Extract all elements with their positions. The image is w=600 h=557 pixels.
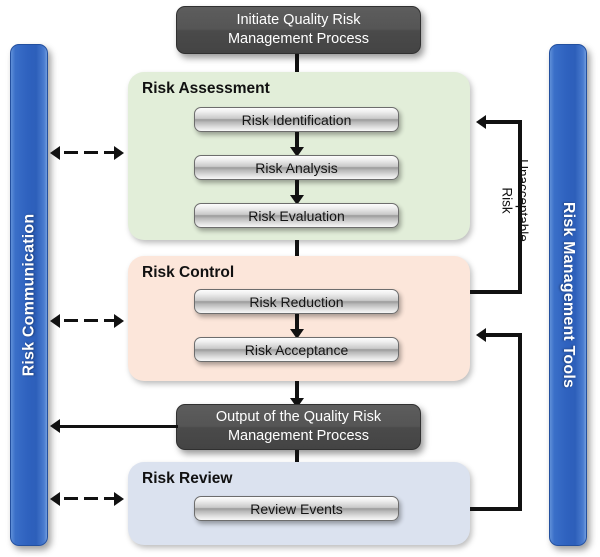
step-risk-evaluation[interactable]: Risk Evaluation bbox=[194, 203, 399, 228]
side-panel-risk-communication-label: Risk Communication bbox=[20, 214, 38, 377]
arrowhead-communication-control-left bbox=[50, 314, 60, 328]
side-panel-risk-management-tools[interactable]: Risk Management Tools bbox=[549, 44, 587, 546]
dash-communication-assessment-2 bbox=[84, 151, 98, 154]
step-risk-evaluation-label: Risk Evaluation bbox=[248, 208, 345, 224]
arrowhead-communication-control-right bbox=[114, 314, 124, 328]
step-risk-identification-label: Risk Identification bbox=[242, 112, 352, 128]
node-initiate-process-text: Initiate Quality Risk Management Process bbox=[228, 11, 369, 48]
arrowhead-review-to-control bbox=[476, 328, 486, 342]
dash-communication-assessment-3 bbox=[104, 151, 114, 154]
arrowhead-communication-assessment-left bbox=[50, 146, 60, 160]
phase-risk-control: Risk Control bbox=[128, 256, 470, 381]
arrowhead-communication-review-left bbox=[50, 492, 60, 506]
node-output-process-text: Output of the Quality Risk Management Pr… bbox=[216, 408, 381, 445]
step-risk-analysis[interactable]: Risk Analysis bbox=[194, 155, 399, 180]
step-risk-reduction-label: Risk Reduction bbox=[249, 294, 343, 310]
step-risk-acceptance[interactable]: Risk Acceptance bbox=[194, 337, 399, 362]
dash-communication-review-3 bbox=[104, 497, 114, 500]
dash-communication-control-3 bbox=[104, 319, 114, 322]
loop-unacceptable-risk-top-segment bbox=[486, 120, 522, 124]
arrowhead-communication-review-right bbox=[114, 492, 124, 506]
dash-communication-control-2 bbox=[84, 319, 98, 322]
arrowhead-unacceptable-risk bbox=[476, 115, 486, 129]
phase-risk-review-title: Risk Review bbox=[142, 470, 232, 488]
node-initiate-process[interactable]: Initiate Quality Risk Management Process bbox=[176, 6, 421, 54]
quality-risk-management-diagram: Risk Communication Risk Management Tools… bbox=[0, 0, 600, 557]
side-panel-risk-management-tools-label: Risk Management Tools bbox=[559, 202, 577, 388]
connector-output-to-communication bbox=[60, 425, 178, 428]
step-risk-identification[interactable]: Risk Identification bbox=[194, 107, 399, 132]
arrowhead-output-to-communication bbox=[50, 419, 60, 433]
step-review-events-label: Review Events bbox=[250, 501, 343, 517]
loop-review-to-control-bottom-segment bbox=[470, 507, 522, 511]
loop-unacceptable-risk-bottom-segment bbox=[470, 290, 522, 294]
step-risk-acceptance-label: Risk Acceptance bbox=[245, 342, 349, 358]
step-risk-reduction[interactable]: Risk Reduction bbox=[194, 289, 399, 314]
node-output-process[interactable]: Output of the Quality Risk Management Pr… bbox=[176, 404, 421, 450]
dash-communication-review-1 bbox=[64, 497, 78, 500]
step-review-events[interactable]: Review Events bbox=[194, 496, 399, 521]
dash-communication-review-2 bbox=[84, 497, 98, 500]
dash-communication-control-1 bbox=[64, 319, 78, 322]
phase-risk-assessment-title: Risk Assessment bbox=[142, 80, 270, 98]
dash-communication-assessment-1 bbox=[64, 151, 78, 154]
loop-review-to-control-top-segment bbox=[486, 333, 522, 337]
side-panel-risk-communication[interactable]: Risk Communication bbox=[10, 44, 48, 546]
step-risk-analysis-label: Risk Analysis bbox=[255, 160, 337, 176]
phase-risk-control-title: Risk Control bbox=[142, 264, 234, 282]
arrowhead-communication-assessment-right bbox=[114, 146, 124, 160]
loop-label-unacceptable-risk: Unacceptable Risk bbox=[499, 156, 530, 246]
loop-review-to-control-vertical-segment bbox=[518, 333, 522, 511]
